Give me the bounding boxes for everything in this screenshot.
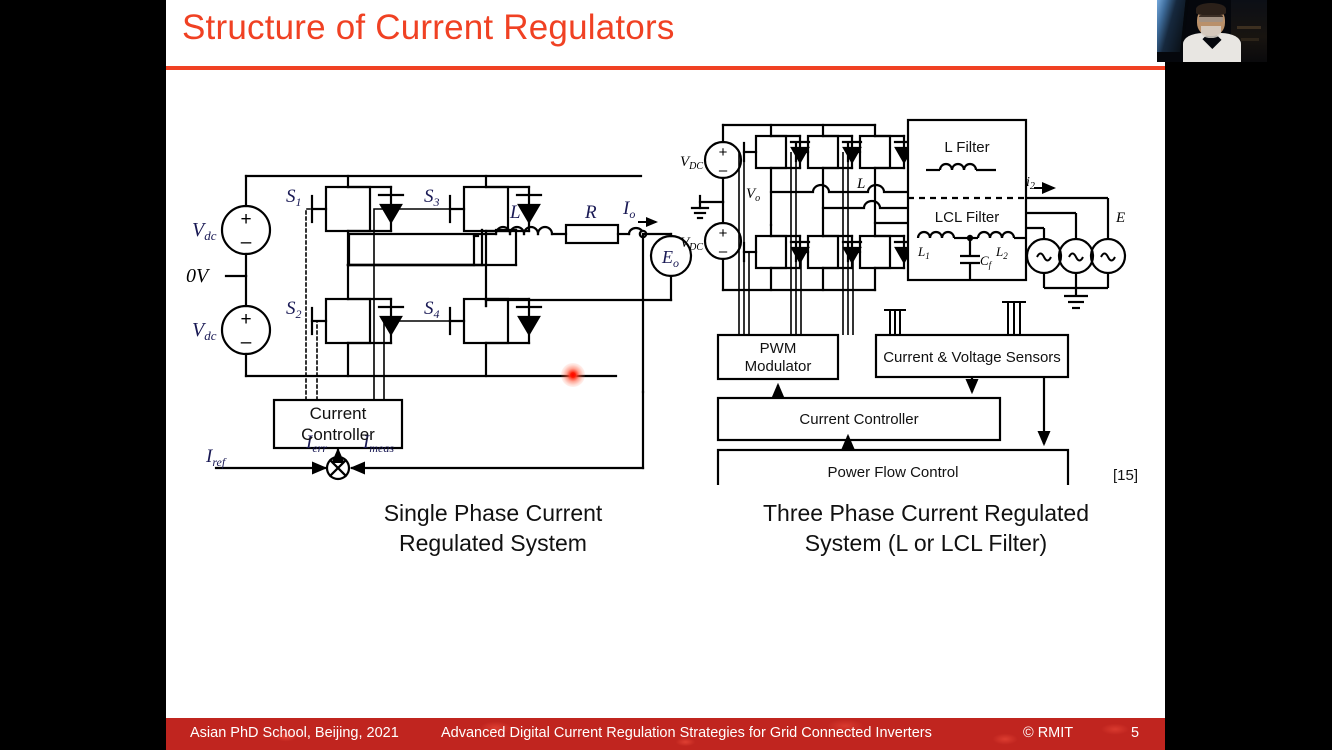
title-divider	[166, 66, 1165, 70]
svg-text:Io: Io	[622, 198, 635, 221]
single-phase-circuit-diagram: + – + – Vdc 0V Vdc S1 S2 S3 S4 L R Io	[186, 110, 706, 485]
svg-text:Iref: Iref	[205, 446, 227, 469]
svg-text:+: +	[240, 209, 251, 230]
svg-text:i2: i2	[1026, 175, 1035, 192]
svg-text:VDC: VDC	[680, 235, 703, 253]
webcam-presenter-hair	[1196, 3, 1226, 15]
svg-text:Vo: Vo	[746, 186, 760, 204]
svg-text:+: +	[719, 144, 728, 161]
svg-text:+: +	[719, 225, 728, 242]
svg-text:S1: S1	[286, 186, 302, 209]
caption-single-phase-line2: Regulated System	[303, 528, 683, 558]
webcam-presenter-beard	[1201, 26, 1221, 38]
webcam-presenter-glasses	[1199, 15, 1223, 22]
svg-text:S4: S4	[424, 298, 440, 321]
svg-text:Controller: Controller	[301, 425, 375, 444]
page-title: Structure of Current Regulators	[182, 8, 675, 48]
svg-text:LCL Filter: LCL Filter	[935, 209, 999, 226]
caption-single-phase-line1: Single Phase Current	[303, 498, 683, 528]
caption-single-phase: Single Phase Current Regulated System	[303, 498, 683, 558]
footer-title: Advanced Digital Current Regulation Stra…	[441, 725, 932, 741]
svg-text:–: –	[241, 332, 252, 353]
svg-text:Vdc: Vdc	[192, 319, 217, 343]
laser-pointer-dot	[561, 363, 585, 387]
svg-text:Power Flow Control: Power Flow Control	[828, 464, 959, 481]
webcam-shelf-secondary	[1241, 38, 1259, 41]
svg-text:–: –	[719, 162, 728, 179]
caption-three-phase-line1: Three Phase Current Regulated	[726, 498, 1126, 528]
svg-text:Current Controller: Current Controller	[799, 411, 918, 428]
svg-text:R: R	[584, 202, 597, 223]
svg-text:0V: 0V	[186, 265, 211, 287]
webcam-shelf	[1237, 26, 1261, 29]
svg-text:Modulator: Modulator	[745, 358, 812, 375]
footer-page-number: 5	[1131, 725, 1139, 741]
reference-marker: [15]	[1113, 467, 1138, 484]
svg-text:L Filter: L Filter	[944, 139, 989, 156]
svg-text:Vdc: Vdc	[192, 219, 217, 243]
svg-text:L: L	[856, 176, 865, 192]
presenter-webcam-video[interactable]	[1157, 0, 1267, 62]
svg-text:E: E	[1115, 210, 1125, 226]
svg-text:L: L	[509, 202, 521, 223]
svg-text:VDC: VDC	[680, 154, 703, 172]
svg-text:S3: S3	[424, 186, 440, 209]
three-phase-circuit-diagram: + – + – VDC VDC Vo L L1 Cf L2 i2 E	[678, 110, 1158, 485]
svg-text:Eo: Eo	[661, 247, 679, 270]
svg-text:Current: Current	[310, 404, 367, 423]
presentation-slide: Structure of Current Regulators	[166, 0, 1165, 750]
svg-text:Current & Voltage Sensors: Current & Voltage Sensors	[883, 349, 1061, 366]
screen: Structure of Current Regulators	[0, 0, 1332, 750]
svg-text:–: –	[719, 243, 728, 260]
svg-text:PWM: PWM	[760, 340, 797, 357]
svg-text:–: –	[241, 232, 252, 253]
slide-footer: Asian PhD School, Beijing, 2021 Advanced…	[166, 718, 1165, 750]
svg-text:S2: S2	[286, 298, 302, 321]
svg-text:+: +	[240, 309, 251, 330]
footer-copyright: © RMIT	[1023, 725, 1073, 741]
footer-event: Asian PhD School, Beijing, 2021	[190, 725, 399, 741]
caption-three-phase: Three Phase Current Regulated System (L …	[726, 498, 1126, 558]
caption-three-phase-line2: System (L or LCL Filter)	[726, 528, 1126, 558]
